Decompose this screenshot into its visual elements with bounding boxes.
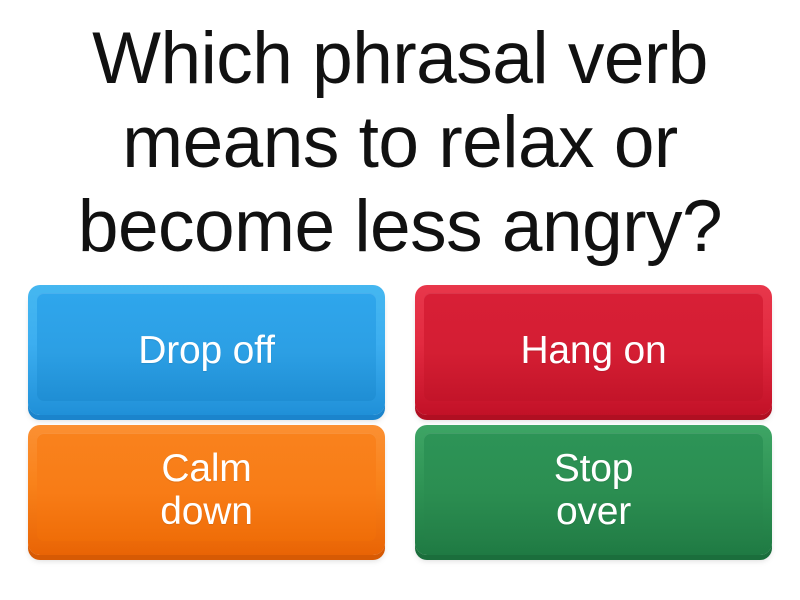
answer-option-drop-off[interactable]: Drop off bbox=[28, 285, 385, 415]
question-area: Which phrasal verb means to relax or bec… bbox=[0, 0, 800, 285]
answer-option-stop-over[interactable]: Stop over bbox=[415, 425, 772, 555]
answer-option-hang-on[interactable]: Hang on bbox=[415, 285, 772, 415]
question-text: Which phrasal verb means to relax or bec… bbox=[18, 17, 782, 269]
answer-option-calm-down[interactable]: Calm down bbox=[28, 425, 385, 555]
answer-option-label: Stop over bbox=[544, 447, 643, 533]
answers-grid: Drop off Hang on Calm down Stop over bbox=[0, 285, 800, 600]
answer-option-label: Hang on bbox=[510, 329, 676, 372]
answer-option-label: Drop off bbox=[128, 329, 284, 372]
quiz-stage: Which phrasal verb means to relax or bec… bbox=[0, 0, 800, 600]
answer-option-label: Calm down bbox=[150, 447, 262, 533]
